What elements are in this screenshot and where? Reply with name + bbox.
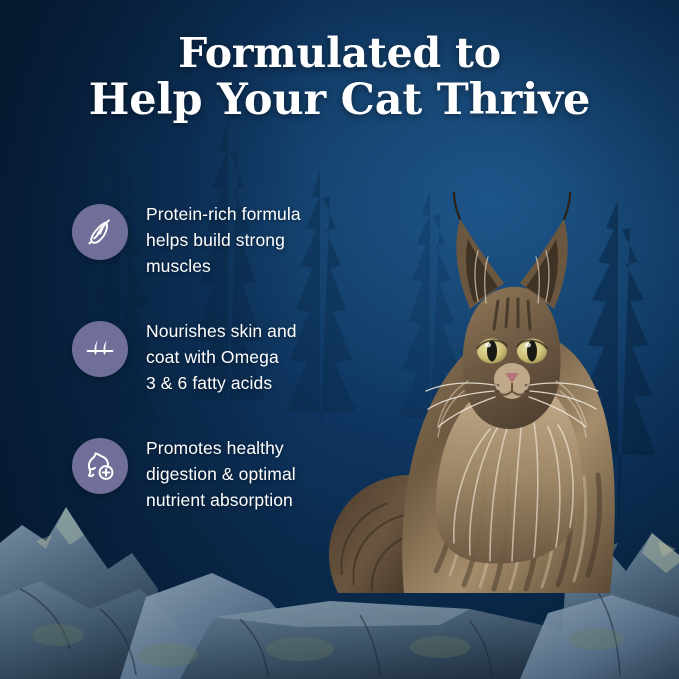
feature-list: Protein-rich formula helps build strong …	[72, 200, 342, 513]
hair-follicle-icon	[72, 321, 128, 377]
feature-line-3: nutrient absorption	[146, 490, 293, 510]
muscle-icon	[72, 204, 128, 260]
feature-line-3: 3 & 6 fatty acids	[146, 373, 272, 393]
feature-text-digestion: Promotes healthy digestion & optimal nut…	[146, 434, 296, 513]
feature-item-skin-coat: Nourishes skin and coat with Omega 3 & 6…	[72, 317, 342, 396]
stomach-plus-icon	[72, 438, 128, 494]
feature-line-2: coat with Omega	[146, 347, 279, 367]
feature-line-3: muscles	[146, 256, 211, 276]
feature-line-2: digestion & optimal	[146, 464, 296, 484]
feature-text-protein: Protein-rich formula helps build strong …	[146, 200, 301, 279]
feature-line-1: Protein-rich formula	[146, 204, 301, 224]
feature-line-1: Promotes healthy	[146, 438, 284, 458]
feature-line-2: helps build strong	[146, 230, 285, 250]
feature-line-1: Nourishes skin and	[146, 321, 297, 341]
cat-photo	[318, 123, 648, 623]
feature-item-protein: Protein-rich formula helps build strong …	[72, 200, 342, 279]
feature-text-skin-coat: Nourishes skin and coat with Omega 3 & 6…	[146, 317, 297, 396]
product-feature-poster: Formulated to Help Your Cat Thrive	[0, 0, 679, 679]
feature-item-digestion: Promotes healthy digestion & optimal nut…	[72, 434, 342, 513]
